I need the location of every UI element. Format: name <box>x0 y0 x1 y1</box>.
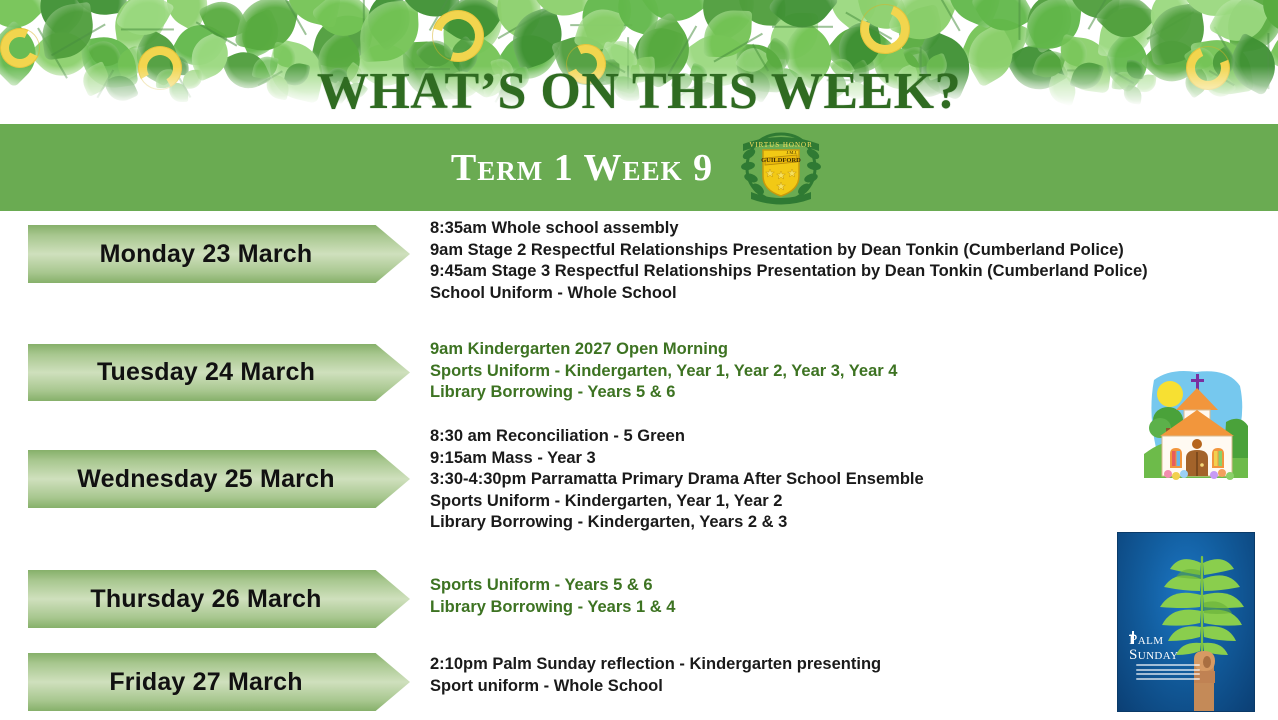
event-line: Sports Uniform - Kindergarten, Year 1, Y… <box>430 491 924 513</box>
svg-text:VIRTUS HONOR: VIRTUS HONOR <box>749 141 813 149</box>
term-banner-label: Term 1 Week 9 <box>451 146 713 190</box>
event-line: 9:15am Mass - Year 3 <box>430 448 924 470</box>
day-arrow-tuesday: Tuesday 24 March <box>28 344 410 401</box>
event-line: 8:30 am Reconciliation - 5 Green <box>430 426 924 448</box>
event-line: 8:35am Whole school assembly <box>430 218 1148 240</box>
palm-sunday-poster: Palm Sunday <box>1117 532 1255 712</box>
day-label: Thursday 26 March <box>90 585 321 614</box>
event-line: Library Borrowing - Years 5 & 6 <box>430 382 897 404</box>
day-arrow-wednesday: Wednesday 25 March <box>28 450 410 508</box>
guildford-crest-icon: VIRTUS HONOR GUILDFORD J.M.J. <box>735 128 827 208</box>
event-line: Library Borrowing - Years 1 & 4 <box>430 597 675 619</box>
newsletter-page: WHAT’S ON THIS WEEK? Term 1 Week 9 <box>0 0 1278 720</box>
event-line: Sports Uniform - Kindergarten, Year 1, Y… <box>430 361 897 383</box>
day-arrow-friday: Friday 27 March <box>28 653 410 711</box>
day-events-friday: 2:10pm Palm Sunday reflection - Kinderga… <box>430 654 881 697</box>
day-events-monday: 8:35am Whole school assembly9am Stage 2 … <box>430 218 1148 304</box>
day-label: Monday 23 March <box>100 240 313 269</box>
palm-title-line2: Sunday <box>1129 648 1178 663</box>
palm-poster-subtext <box>1136 664 1200 682</box>
event-line: 2:10pm Palm Sunday reflection - Kinderga… <box>430 654 881 676</box>
palm-poster-title: Palm Sunday <box>1129 633 1178 663</box>
event-line: Sport uniform - Whole School <box>430 676 881 698</box>
event-line: 9:45am Stage 3 Respectful Relationships … <box>430 261 1148 283</box>
day-events-thursday: Sports Uniform - Years 5 & 6Library Borr… <box>430 575 675 618</box>
svg-text:J.M.J.: J.M.J. <box>787 150 798 155</box>
svg-text:GUILDFORD: GUILDFORD <box>761 157 801 164</box>
day-arrow-thursday: Thursday 26 March <box>28 570 410 628</box>
church-clipart-icon <box>1140 362 1252 482</box>
day-label: Wednesday 25 March <box>77 465 334 494</box>
palm-title-line1: Palm <box>1129 633 1178 648</box>
event-line: Library Borrowing - Kindergarten, Years … <box>430 512 924 534</box>
event-line: 9am Stage 2 Respectful Relationships Pre… <box>430 240 1148 262</box>
day-label: Tuesday 24 March <box>97 358 315 387</box>
day-arrow-monday: Monday 23 March <box>28 225 410 283</box>
page-title: WHAT’S ON THIS WEEK? <box>0 62 1278 121</box>
shamrock-stem <box>121 29 174 31</box>
event-line: Sports Uniform - Years 5 & 6 <box>430 575 675 597</box>
event-line: 3:30-4:30pm Parramatta Primary Drama Aft… <box>430 469 924 491</box>
day-events-wednesday: 8:30 am Reconciliation - 5 Green9:15am M… <box>430 426 924 534</box>
term-banner: Term 1 Week 9 VIRTUS HONOR <box>0 124 1278 211</box>
event-line: School Uniform - Whole School <box>430 283 1148 305</box>
day-label: Friday 27 March <box>109 668 302 697</box>
shamrock-stem <box>772 26 833 28</box>
day-events-tuesday: 9am Kindergarten 2027 Open MorningSports… <box>430 339 897 404</box>
event-line: 9am Kindergarten 2027 Open Morning <box>430 339 897 361</box>
